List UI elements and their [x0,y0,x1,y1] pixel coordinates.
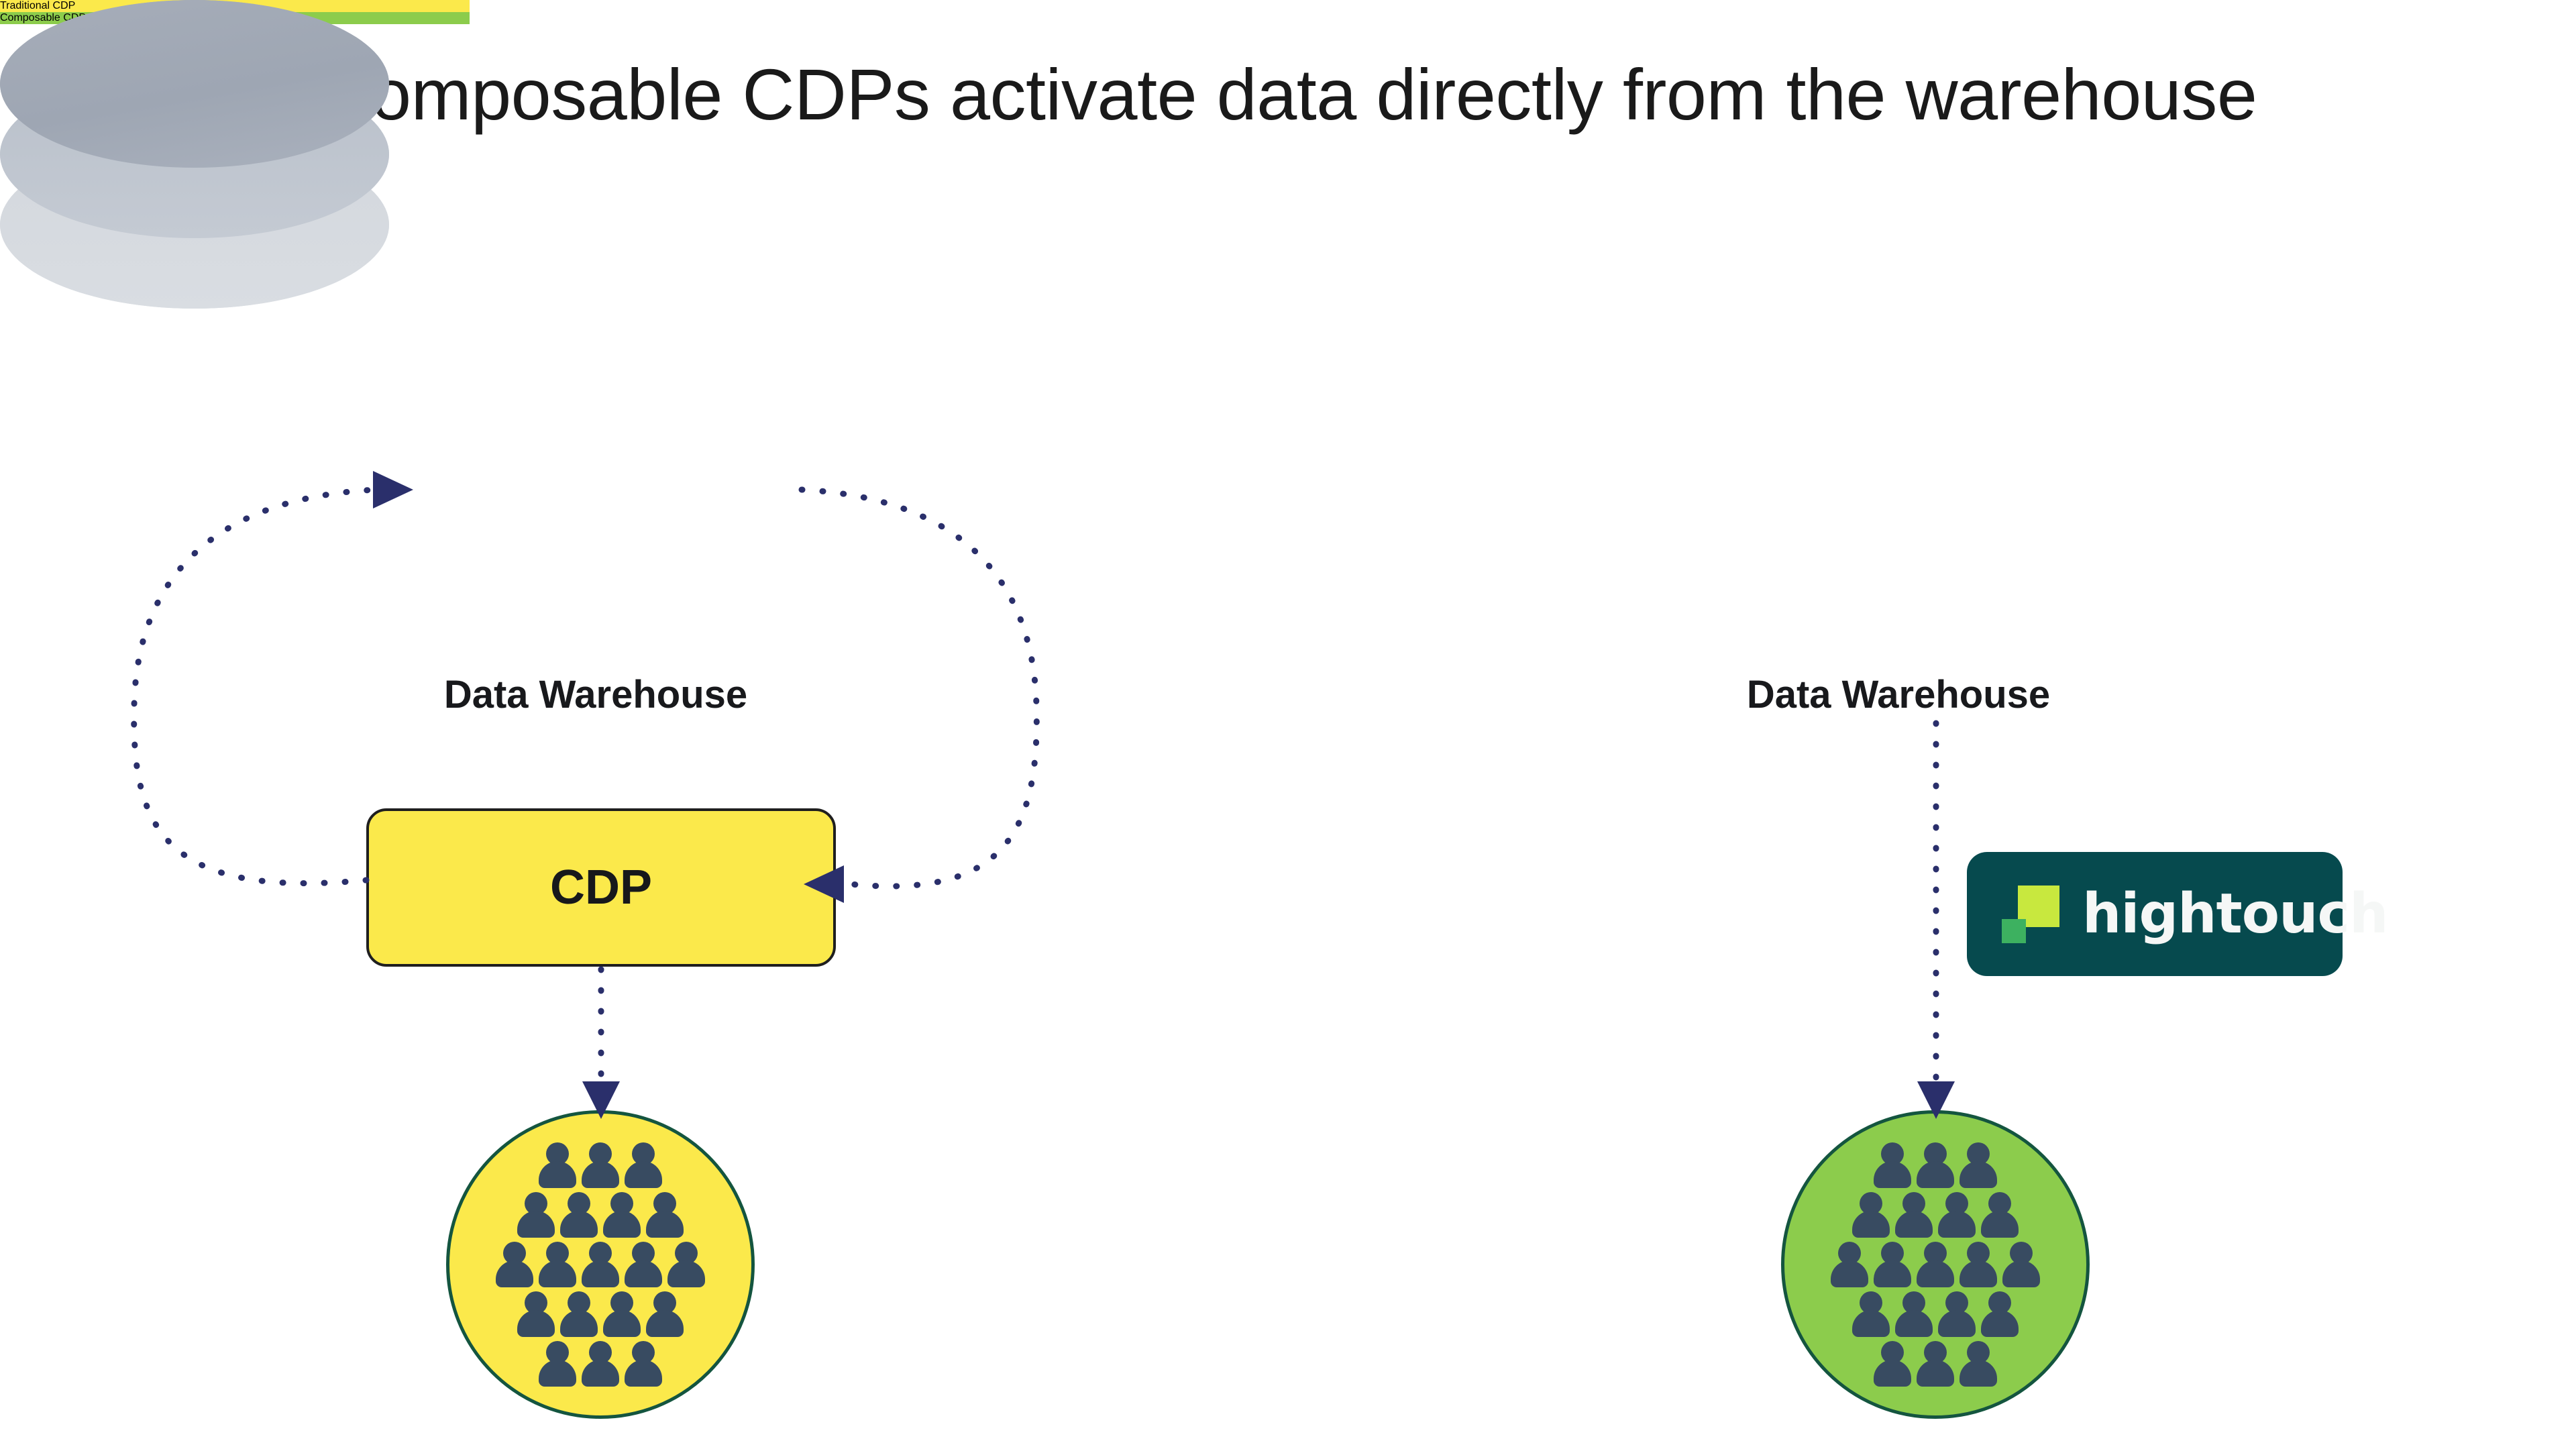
person-icon [1938,1291,1976,1337]
arrow-warehouse-to-cdp-path [802,490,1036,886]
person-icon [1874,1142,1911,1188]
audience-circle-right [1781,1110,2090,1419]
person-icon [582,1142,619,1188]
person-icon [1960,1242,1997,1287]
arrow-cdp-to-warehouse-path [134,490,376,883]
arrow-cdp-to-warehouse-head [373,471,413,508]
person-icon [539,1242,576,1287]
person-icon [1960,1142,1997,1188]
person-icon [1852,1291,1890,1337]
person-icon [1960,1341,1997,1387]
people-grid-left [449,1114,751,1415]
person-icon [625,1341,662,1387]
people-row [539,1142,662,1188]
person-icon [517,1192,555,1238]
person-icon [1917,1142,1954,1188]
people-row [517,1291,684,1337]
person-icon [625,1242,662,1287]
hightouch-square-green [2002,919,2026,943]
people-row [1831,1242,2040,1287]
person-icon [603,1291,641,1337]
person-icon [1852,1192,1890,1238]
people-grid-right [1784,1114,2086,1415]
person-icon [646,1291,684,1337]
data-warehouse-label-right: Data Warehouse [1664,672,2133,717]
people-row [1874,1142,1997,1188]
person-icon [1874,1242,1911,1287]
cdp-box: CDP [366,808,836,967]
person-icon [625,1142,662,1188]
person-icon [1938,1192,1976,1238]
person-icon [582,1242,619,1287]
person-icon [496,1242,533,1287]
person-icon [560,1192,598,1238]
people-row [496,1242,705,1287]
person-icon [1895,1192,1933,1238]
person-icon [603,1192,641,1238]
person-icon [539,1142,576,1188]
person-icon [1831,1242,1868,1287]
person-icon [646,1192,684,1238]
person-icon [582,1341,619,1387]
person-icon [517,1291,555,1337]
hightouch-logo: hightouch [1967,852,2343,976]
hightouch-wordmark: hightouch [2082,887,2387,942]
people-row [1852,1192,2019,1238]
person-icon [1917,1341,1954,1387]
hightouch-squares-icon [2002,885,2059,943]
audience-circle-left [446,1110,755,1419]
person-icon [1895,1291,1933,1337]
people-row [517,1192,684,1238]
people-row [539,1341,662,1387]
people-row [1874,1341,1997,1387]
person-icon [1981,1291,2019,1337]
person-icon [2002,1242,2040,1287]
warehouse-disc-top [0,0,389,168]
person-icon [667,1242,705,1287]
person-icon [539,1341,576,1387]
person-icon [560,1291,598,1337]
person-icon [1981,1192,2019,1238]
people-row [1852,1291,2019,1337]
person-icon [1917,1242,1954,1287]
data-warehouse-label-left: Data Warehouse [361,672,830,717]
person-icon [1874,1341,1911,1387]
